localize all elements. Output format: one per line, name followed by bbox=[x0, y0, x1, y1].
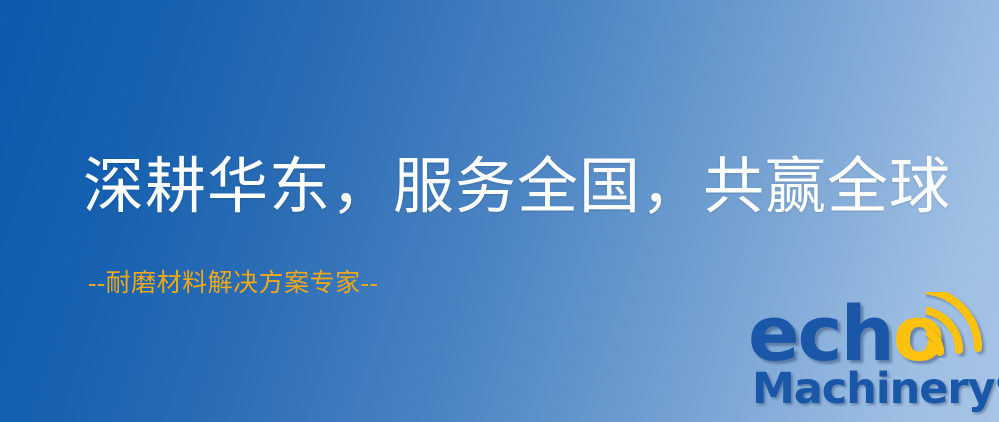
logo-tagline: Machinery® bbox=[752, 368, 999, 411]
logo-wordmark: echo bbox=[748, 296, 943, 372]
banner-headline: 深耕华东，服务全国，共赢全球 bbox=[83, 154, 951, 222]
registered-trademark-icon: ® bbox=[995, 371, 999, 395]
company-logo[interactable]: echo Machinery® bbox=[748, 296, 999, 422]
signal-waves-icon bbox=[926, 292, 994, 358]
logo-tagline-text: Machinery bbox=[752, 364, 995, 414]
hero-banner: 深耕华东，服务全国，共赢全球 --耐磨材料解决方案专家-- echo Machi… bbox=[0, 0, 999, 422]
banner-subtitle: --耐磨材料解决方案专家-- bbox=[88, 269, 378, 299]
